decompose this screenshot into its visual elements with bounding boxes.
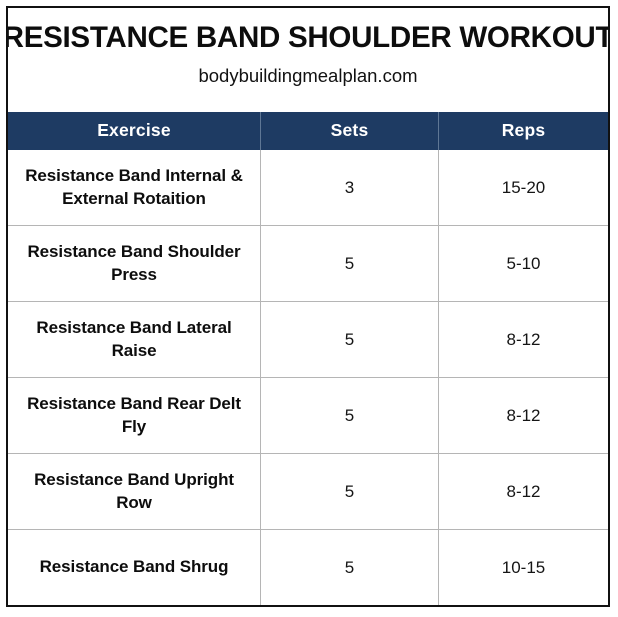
cell-reps-value: 5-10 (439, 226, 608, 301)
site-attribution: bodybuildingmealplan.com (198, 66, 417, 86)
cell-reps-value: 15-20 (439, 150, 608, 225)
cell-reps-value: 8-12 (439, 302, 608, 377)
workout-table: Exercise Sets Reps Resistance Band Inter… (8, 112, 608, 605)
table-row: Resistance Band Shoulder Press 5 5-10 (8, 226, 608, 302)
table-row: Resistance Band Lateral Raise 5 8-12 (8, 302, 608, 378)
table-row: Resistance Band Rear Delt Fly 5 8-12 (8, 378, 608, 454)
workout-infographic: RESISTANCE BAND SHOULDER WORKOUT bodybui… (0, 0, 618, 617)
cell-exercise-name: Resistance Band Rear Delt Fly (8, 378, 261, 453)
cell-reps-value: 10-15 (439, 530, 608, 605)
table-row: Resistance Band Upright Row 5 8-12 (8, 454, 608, 530)
cell-exercise-name: Resistance Band Shoulder Press (8, 226, 261, 301)
cell-sets-value: 5 (261, 302, 439, 377)
cell-reps-value: 8-12 (439, 454, 608, 529)
cell-sets-value: 5 (261, 378, 439, 453)
cell-sets-value: 5 (261, 454, 439, 529)
cell-sets-value: 3 (261, 150, 439, 225)
column-header-exercise: Exercise (8, 112, 261, 150)
table-row: Resistance Band Internal & External Rota… (8, 150, 608, 226)
cell-reps-value: 8-12 (439, 378, 608, 453)
cell-exercise-name: Resistance Band Internal & External Rota… (8, 150, 261, 225)
table-row: Resistance Band Shrug 5 10-15 (8, 530, 608, 605)
cell-sets-value: 5 (261, 226, 439, 301)
cell-exercise-name: Resistance Band Upright Row (8, 454, 261, 529)
cell-exercise-name: Resistance Band Shrug (8, 530, 261, 605)
column-header-sets: Sets (261, 112, 439, 150)
page-title: RESISTANCE BAND SHOULDER WORKOUT (6, 21, 610, 54)
cell-exercise-name: Resistance Band Lateral Raise (8, 302, 261, 377)
table-header-row: Exercise Sets Reps (8, 112, 608, 150)
masthead: RESISTANCE BAND SHOULDER WORKOUT bodybui… (8, 8, 608, 112)
column-header-reps: Reps (439, 112, 608, 150)
infographic-frame: RESISTANCE BAND SHOULDER WORKOUT bodybui… (6, 6, 610, 607)
cell-sets-value: 5 (261, 530, 439, 605)
